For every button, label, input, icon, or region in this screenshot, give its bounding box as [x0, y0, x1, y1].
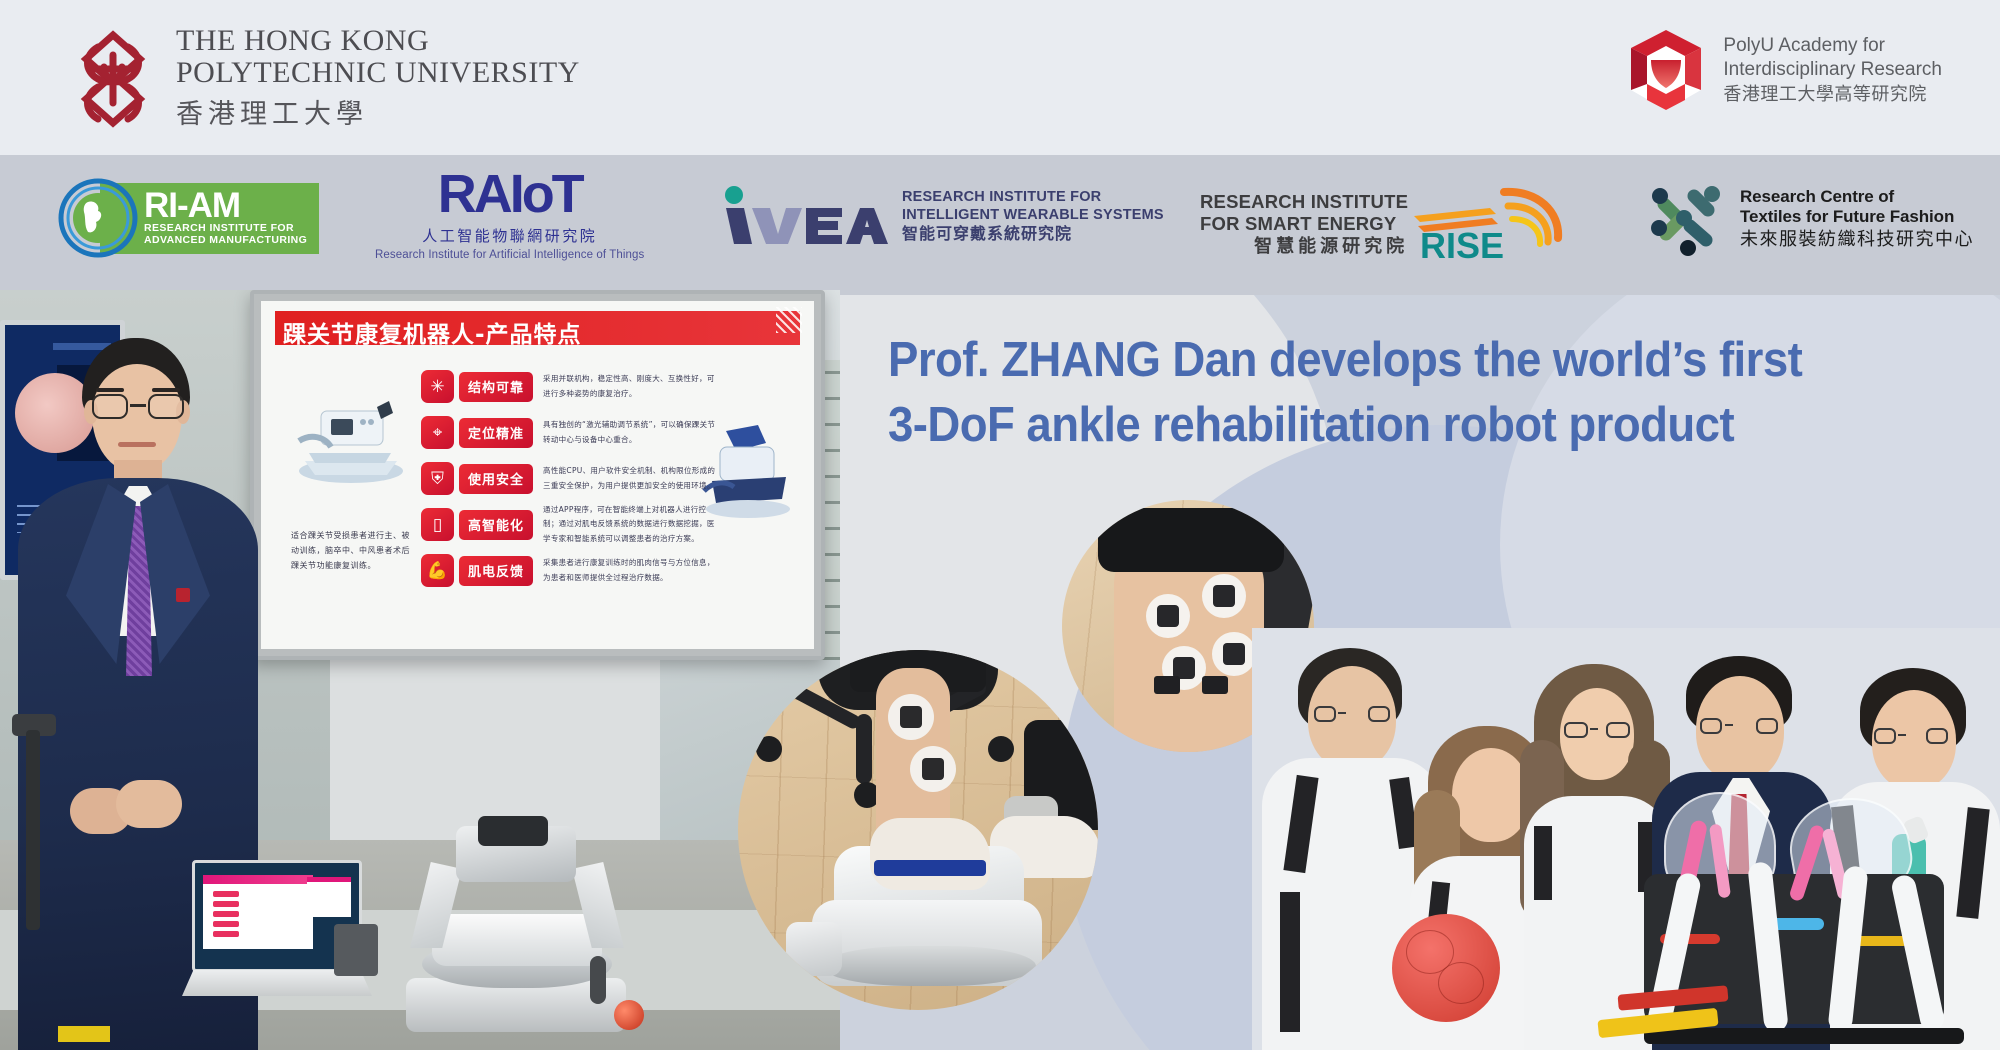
- jacket-stripe: [1280, 892, 1300, 1032]
- laptop-dock: [334, 924, 378, 976]
- emg-electrode: [888, 694, 934, 740]
- laptop-pill: [213, 921, 239, 927]
- slide-left-caption: 适合踝关节受损患者进行主、被动训练，脑卒中、中风患者术后踝关节功能康复训练。: [291, 529, 413, 573]
- institute-logo-ri-am: RI-AM RESEARCH INSTITUTE FOR ADVANCED MA…: [58, 178, 319, 258]
- robot-side-actuator: [786, 922, 842, 976]
- slide-robot-illustration-icon: [291, 391, 411, 486]
- emg-transmitter: [1202, 676, 1228, 694]
- pair-logo-lockup: PolyU Academy for Interdisciplinary Rese…: [1627, 28, 1942, 112]
- emg-electrode: [1212, 632, 1256, 676]
- device-emergency-stop-button[interactable]: [614, 1000, 644, 1030]
- slide-corner-pattern-icon: [776, 307, 802, 333]
- raiot-name-chinese: 人工智能物聯網研究院: [422, 225, 597, 246]
- presentation-screen: 踝关节康复机器人-产品特点: [250, 290, 825, 660]
- rctff-subtitle-line-2: Textiles for Future Fashion: [1740, 207, 1974, 227]
- glasses-lens-right: [1368, 706, 1390, 722]
- university-name-line-1: THE HONG KONG: [176, 26, 580, 57]
- glasses-bridge: [1338, 712, 1346, 714]
- university-name-chinese: 香港理工大學: [176, 92, 580, 131]
- emg-electrode: [1146, 594, 1190, 638]
- laptop-slide-feature-pills: [213, 891, 239, 941]
- humanoid-robot-rig: [1604, 720, 2000, 1050]
- slide-feature-row: ▯ 高智能化 通过APP程序，可在智能终端上对机器人进行控制；通过对肌电反馈系统…: [421, 505, 721, 544]
- glasses-lens-left: [1314, 706, 1336, 722]
- yellow-floor-tape: [58, 1026, 110, 1042]
- university-name-line-2: POLYTECHNIC UNIVERSITY: [176, 58, 580, 89]
- polyu-knot-logo-icon: [70, 29, 156, 129]
- slide-title: 踝关节康复机器人-产品特点: [283, 315, 582, 349]
- ball-seam: [1438, 962, 1484, 1004]
- student-1-glasses-icon: [1314, 706, 1390, 724]
- institute-logo-rise: RESEARCH INSTITUTE FOR SMART ENERGY 智慧能源…: [1200, 186, 1572, 264]
- feature-description: 具有独创的“激光辅助调节系统”，可以确保踝关节转动中心与设备中心重合。: [543, 418, 718, 447]
- students-with-professor-and-robot-photo: [1252, 628, 2000, 1050]
- structure-node-icon: ✳: [421, 370, 454, 403]
- raiot-name-english: Research Institute for Artificial Intell…: [375, 249, 644, 261]
- laptop-pill: [213, 911, 239, 917]
- iwear-subtitle-line-1: RESEARCH INSTITUTE FOR: [902, 189, 1164, 207]
- pair-cube-logo-icon: [1627, 28, 1705, 112]
- polyu-lapel-pin: [176, 588, 190, 602]
- slide-feature-row: ⛨ 使用安全 高性能CPU、用户软件安全机制、机构限位形成的三重安全保护，为用户…: [421, 459, 721, 498]
- laptop-thumbnail-pane: [307, 877, 351, 917]
- robot-rotary-ring: [822, 946, 1036, 986]
- rise-subtitle-line-1: RESEARCH INSTITUTE: [1200, 191, 1408, 213]
- glasses-lens-left: [1564, 722, 1588, 738]
- feature-label: 定位精准: [459, 418, 533, 448]
- shield-icon: ⛨: [421, 462, 454, 495]
- glasses-lens-left: [92, 394, 128, 419]
- iwear-name-chinese: 智能可穿戴系統研究院: [902, 224, 1164, 245]
- smartphone-icon: ▯: [421, 508, 454, 541]
- polyu-logo-lockup: THE HONG KONG POLYTECHNIC UNIVERSITY 香港理…: [70, 26, 580, 131]
- laptop-slide-preview: [203, 875, 313, 949]
- professor-eyebrow-left: [96, 388, 124, 392]
- rise-subtitle-line-2: FOR SMART ENERGY: [1200, 213, 1396, 235]
- camera-tripod: [0, 730, 70, 930]
- blue-foot-strap: [874, 860, 986, 876]
- feature-label: 高智能化: [459, 510, 533, 540]
- laptop-thumbnail-bar: [307, 877, 351, 882]
- slide-feature-list: ✳ 结构可靠 采用并联机构，稳定性高、刚度大、互换性好，可进行多种姿势的康复治疗…: [421, 367, 721, 597]
- professor-hand-right: [116, 780, 182, 828]
- ankle-rehab-device-on-table: [392, 802, 642, 1032]
- iwear-wordmark-icon: [718, 186, 896, 248]
- feature-description: 采集患者进行康复训练时的肌肉信号与方位信息，为患者和医师提供全过程治疗数据。: [543, 556, 718, 585]
- laptop-pill: [213, 931, 239, 937]
- emg-electrode: [1202, 574, 1246, 618]
- glasses-lens-right: [148, 394, 184, 419]
- riam-acronym: RI-AM: [144, 189, 240, 222]
- pair-name-line-1: PolyU Academy for: [1723, 34, 1942, 58]
- laptop-pill: [213, 901, 239, 907]
- professor-eyebrow-right: [152, 388, 180, 392]
- laptop-slide-title-bar: [203, 875, 313, 884]
- pair-name-chinese: 香港理工大學高等研究院: [1723, 83, 1942, 106]
- header-band: THE HONG KONG POLYTECHNIC UNIVERSITY 香港理…: [0, 0, 2000, 155]
- chair-caster: [988, 736, 1014, 762]
- presentation-slide: 踝关节康复机器人-产品特点: [261, 301, 814, 649]
- page-title: Prof. ZHANG Dan develops the world’s fir…: [888, 328, 1874, 457]
- professor-mouth: [118, 442, 156, 447]
- slide-feature-row: ✳ 结构可靠 采用并联机构，稳定性高、刚度大、互换性好，可进行多种姿势的康复治疗…: [421, 367, 721, 406]
- muscle-arm-icon: 💪: [421, 554, 454, 587]
- slide-feature-row: ⌖ 定位精准 具有独创的“激光辅助调节系统”，可以确保踝关节转动中心与设备中心重…: [421, 413, 721, 452]
- device-joystick[interactable]: [590, 956, 606, 1004]
- black-shorts: [1098, 508, 1284, 572]
- feature-description: 高性能CPU、用户软件安全机制、机构限位形成的三重安全保护，为用户提供更加安全的…: [543, 464, 718, 493]
- riam-globe-icon: [58, 178, 138, 258]
- institute-logo-iwear: RESEARCH INSTITUTE FOR INTELLIGENT WEARA…: [718, 186, 1164, 248]
- rctff-dots-icon: [1650, 182, 1724, 256]
- riam-subtitle-line-2: ADVANCED MANUFACTURING: [144, 234, 307, 246]
- headline-line-1: Prof. ZHANG Dan develops the world’s fir…: [888, 328, 1874, 393]
- feature-label: 结构可靠: [459, 372, 533, 402]
- patient-shoe-in-robot: [870, 818, 990, 890]
- device-control-panel: [478, 816, 548, 846]
- feature-label: 使用安全: [459, 464, 533, 494]
- emg-electrode: [910, 746, 956, 792]
- red-robot-soccer-ball: [1392, 914, 1500, 1022]
- institute-logo-raiot: RAIoT 人工智能物聯網研究院 Research Institute for …: [375, 172, 644, 261]
- headline-line-2: 3-DoF ankle rehabilitation robot product: [888, 393, 1874, 458]
- prof-zhang-dan-portrait: 踝关节康复机器人-产品特点: [0, 290, 840, 1050]
- feature-label: 肌电反馈: [459, 556, 533, 586]
- rise-name-chinese: 智慧能源研究院: [1254, 235, 1408, 258]
- rise-swirl-icon: RISE: [1404, 186, 1572, 264]
- pair-name-line-2: Interdisciplinary Research: [1723, 58, 1942, 82]
- robot-base-plate: [1644, 1028, 1964, 1044]
- poster-canvas: THE HONG KONG POLYTECHNIC UNIVERSITY 香港理…: [0, 0, 2000, 1050]
- svg-text:RISE: RISE: [1420, 225, 1504, 264]
- professor-glasses-icon: [90, 394, 186, 420]
- institute-logo-rctff: Research Centre of Textiles for Future F…: [1650, 182, 1974, 256]
- laptop-pill: [213, 891, 239, 897]
- slide-feature-row: 💪 肌电反馈 采集患者进行康复训练时的肌肉信号与方位信息，为患者和医师提供全过程…: [421, 551, 721, 590]
- chair-column: [856, 714, 872, 784]
- feature-description: 通过APP程序，可在智能终端上对机器人进行控制；通过对肌电反馈系统的数据进行数据…: [543, 503, 718, 546]
- glasses-bridge: [1590, 728, 1598, 730]
- device-foot-plate: [432, 914, 602, 966]
- emg-transmitter: [1154, 676, 1180, 694]
- iwear-subtitle-line-2: INTELLIGENT WEARABLE SYSTEMS: [902, 207, 1164, 225]
- riam-subtitle-line-1: RESEARCH INSTITUTE FOR: [144, 222, 294, 234]
- rctff-name-chinese: 未來服裝紡織科技研究中心: [1740, 228, 1974, 251]
- student-2-face: [1452, 748, 1530, 842]
- jacket-stripe: [1534, 826, 1552, 900]
- rctff-subtitle-line-1: Research Centre of: [1740, 187, 1974, 207]
- location-pin-icon: ⌖: [421, 416, 454, 449]
- glasses-bridge: [130, 404, 146, 407]
- tripod-column: [26, 730, 40, 930]
- laptop: [182, 860, 372, 1010]
- chair-caster: [756, 736, 782, 762]
- raiot-acronym: RAIoT: [438, 172, 582, 218]
- feature-description: 采用并联机构，稳定性高、刚度大、互换性好，可进行多种姿势的康复治疗。: [543, 372, 718, 401]
- ankle-rehab-robot-in-use-photo: [738, 650, 1098, 1010]
